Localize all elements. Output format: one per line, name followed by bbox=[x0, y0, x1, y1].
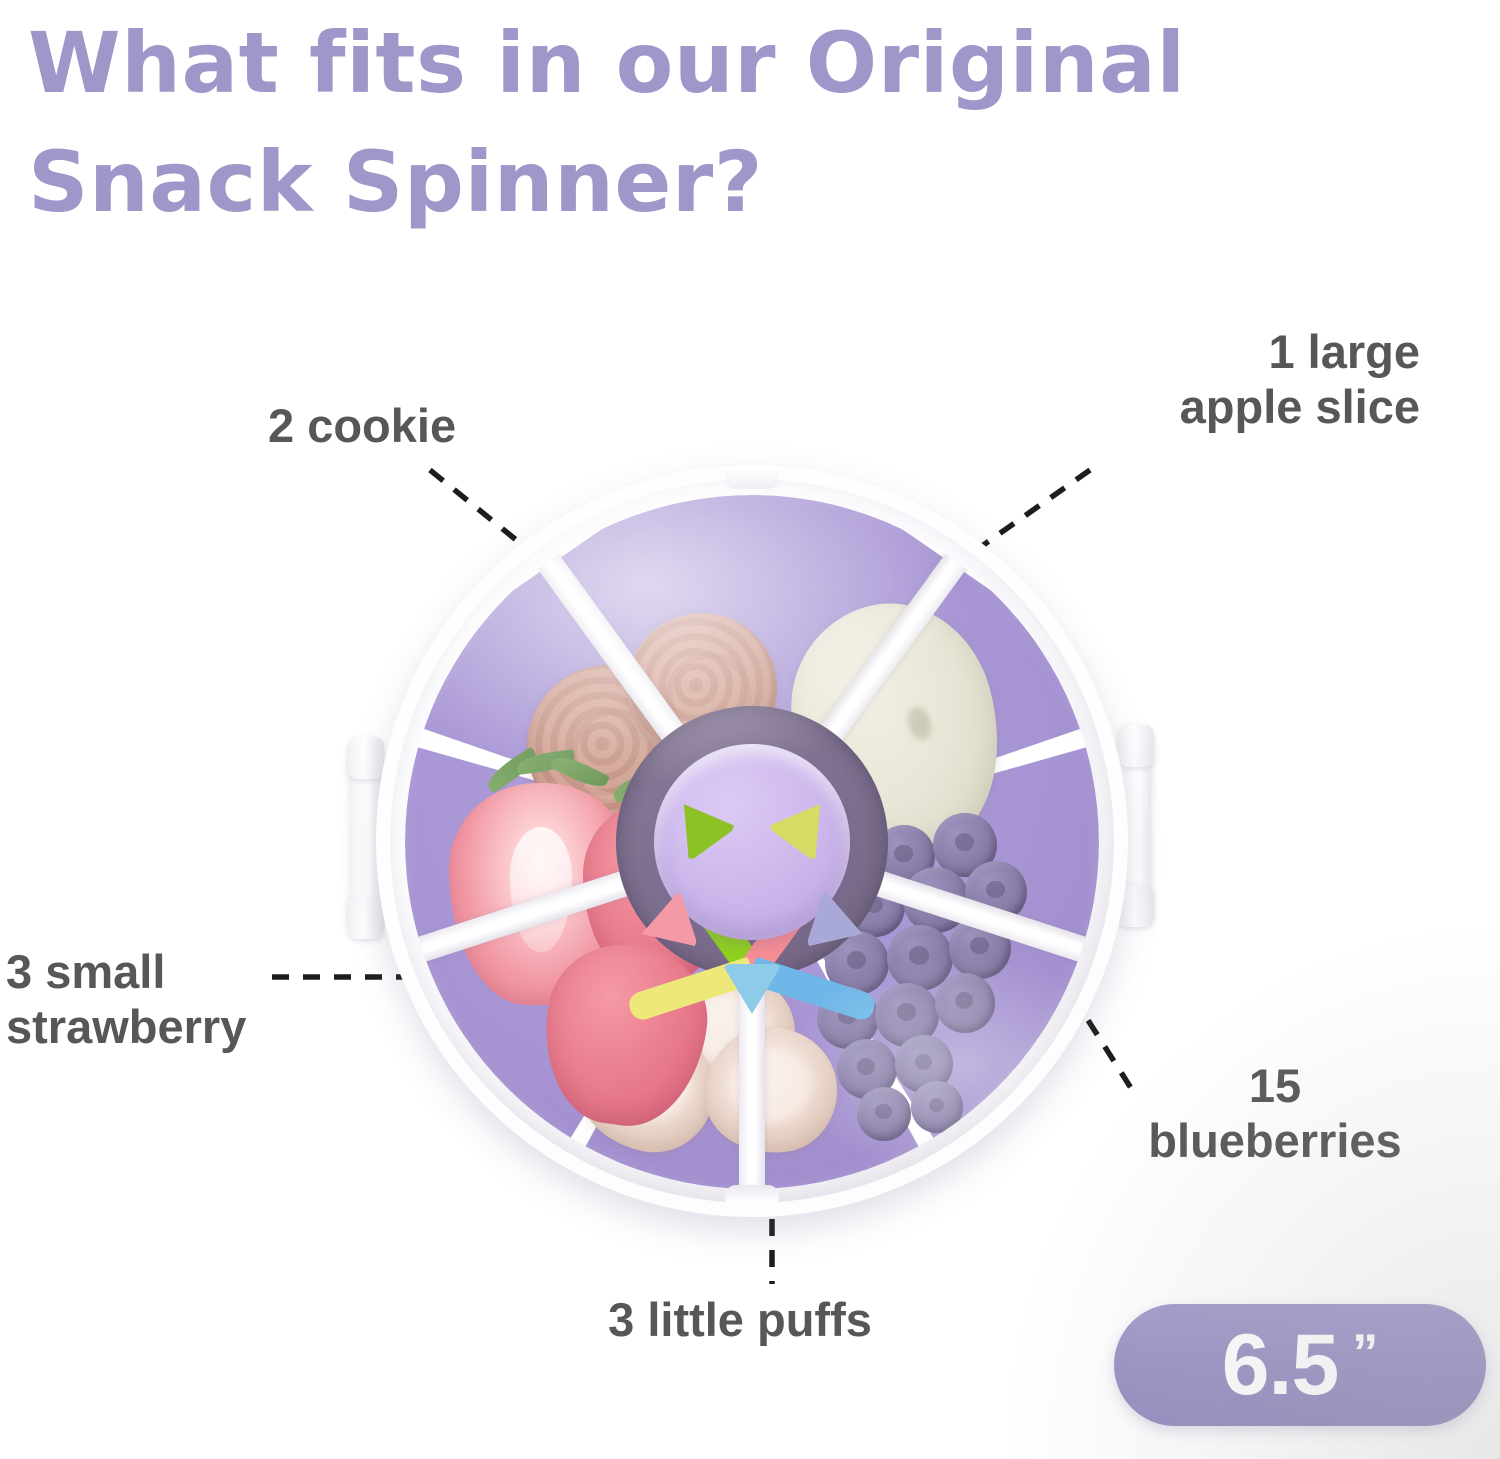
snack-spinner-product bbox=[353, 455, 1151, 1245]
callout-label-cookie: 2 cookie bbox=[268, 398, 456, 453]
compartment-wheel bbox=[405, 495, 1099, 1189]
size-badge-value: 6.5 bbox=[1222, 1322, 1339, 1408]
size-badge: 6.5 ” bbox=[1114, 1304, 1486, 1426]
callout-label-apple: 1 large apple slice bbox=[1000, 324, 1420, 435]
infographic-canvas: What fits in our Original Snack Spinner?… bbox=[0, 0, 1500, 1459]
page-title: What fits in our Original Snack Spinner? bbox=[28, 4, 1468, 243]
lid-notch-top bbox=[725, 469, 779, 489]
lid-notch-bottom bbox=[725, 1185, 779, 1205]
spinner-hub-button[interactable] bbox=[654, 744, 850, 940]
size-badge-unit: ” bbox=[1352, 1327, 1378, 1379]
callout-label-puffs: 3 little puffs bbox=[500, 1292, 980, 1347]
callout-label-strawberry: 3 small strawberry bbox=[6, 944, 366, 1055]
